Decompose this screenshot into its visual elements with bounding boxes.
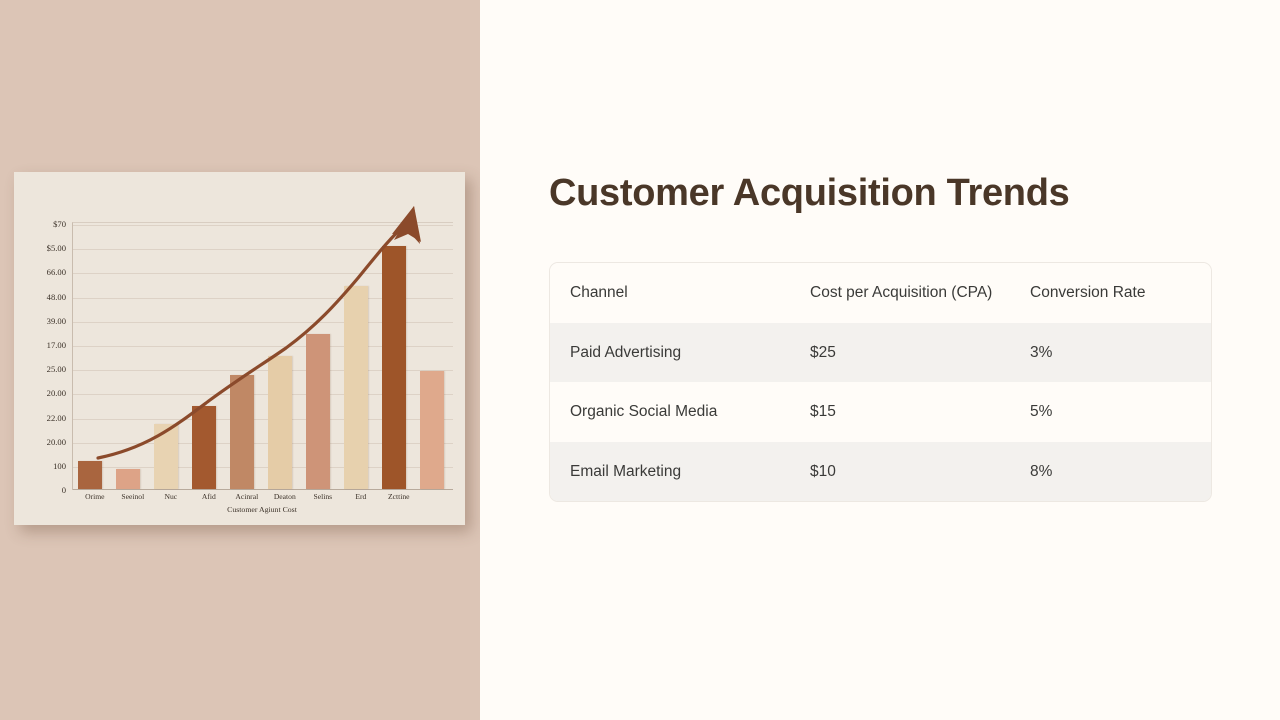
table-row: Organic Social Media $15 5%: [550, 382, 1211, 442]
chart-x-tick-label: Erd: [342, 492, 380, 501]
chart-x-tick-label: Deaton: [266, 492, 304, 501]
cell-cpa: $10: [810, 442, 1030, 502]
chart-y-tick-label: 25.00: [47, 364, 66, 374]
chart-x-axis-title: Customer Agiunt Cost: [72, 505, 452, 514]
chart-bars: [72, 222, 452, 489]
chart-canvas: $70$5.0066.0048.0039.0017.0025.0020.0022…: [14, 172, 465, 525]
chart-x-tick-label: Nuc: [152, 492, 190, 501]
chart-x-tick-label: Selins: [304, 492, 342, 501]
chart-x-tick-label: Seeinol: [114, 492, 152, 501]
column-header-cpa: Cost per Acquisition (CPA): [810, 263, 1030, 323]
chart-y-tick-label: 20.00: [47, 388, 66, 398]
chart-x-axis-labels: OrimeSeeinolNucAfidAcinralDeatonSelinsEr…: [72, 492, 452, 506]
chart-bar: [116, 469, 140, 489]
chart-y-tick-label: 100: [53, 461, 66, 471]
chart-bar: [420, 371, 444, 489]
chart-image-card: $70$5.0066.0048.0039.0017.0025.0020.0022…: [14, 172, 465, 525]
chart-x-tick-label: Afid: [190, 492, 228, 501]
chart-x-tick-label: Orime: [76, 492, 114, 501]
chart-y-tick-label: 48.00: [47, 292, 66, 302]
cell-conversion: 5%: [1030, 382, 1210, 442]
column-header-conversion: Conversion Rate: [1030, 263, 1210, 323]
chart-y-tick-label: 22.00: [47, 413, 66, 423]
page-title: Customer Acquisition Trends: [549, 172, 1249, 216]
chart-y-tick-label: 20.00: [47, 437, 66, 447]
chart-bar: [344, 286, 368, 489]
slide: $70$5.0066.0048.0039.0017.0025.0020.0022…: [0, 0, 1280, 720]
chart-bar: [268, 356, 292, 489]
chart-bar: [78, 461, 102, 489]
chart-y-tick-label: $5.00: [47, 243, 66, 253]
chart-y-tick-label: 66.00: [47, 267, 66, 277]
cell-channel: Email Marketing: [550, 442, 810, 502]
chart-x-axis-line: [73, 489, 453, 490]
chart-x-tick-label: Acinral: [228, 492, 266, 501]
content-panel: Customer Acquisition Trends Channel Cost…: [480, 0, 1280, 720]
table-row: Paid Advertising $25 3%: [550, 323, 1211, 383]
chart-bar: [306, 334, 330, 489]
table-row: Email Marketing $10 8%: [550, 442, 1211, 502]
table-header-row: Channel Cost per Acquisition (CPA) Conve…: [550, 263, 1211, 323]
cell-cpa: $15: [810, 382, 1030, 442]
chart-bar: [382, 246, 406, 489]
cell-channel: Organic Social Media: [550, 382, 810, 442]
cell-cpa: $25: [810, 323, 1030, 383]
column-header-channel: Channel: [550, 263, 810, 323]
chart-y-tick-label: $70: [53, 219, 66, 229]
chart-y-tick-label: 39.00: [47, 316, 66, 326]
chart-y-tick-label: 17.00: [47, 340, 66, 350]
chart-bar: [154, 424, 178, 489]
chart-bar: [192, 406, 216, 489]
metrics-table: Channel Cost per Acquisition (CPA) Conve…: [549, 262, 1212, 502]
chart-y-tick-label: 0: [62, 485, 66, 495]
cell-conversion: 8%: [1030, 442, 1210, 502]
cell-conversion: 3%: [1030, 323, 1210, 383]
cell-channel: Paid Advertising: [550, 323, 810, 383]
chart-bar: [230, 375, 254, 489]
left-decorative-panel: $70$5.0066.0048.0039.0017.0025.0020.0022…: [0, 0, 480, 720]
chart-x-tick-label: Zcttine: [380, 492, 418, 501]
